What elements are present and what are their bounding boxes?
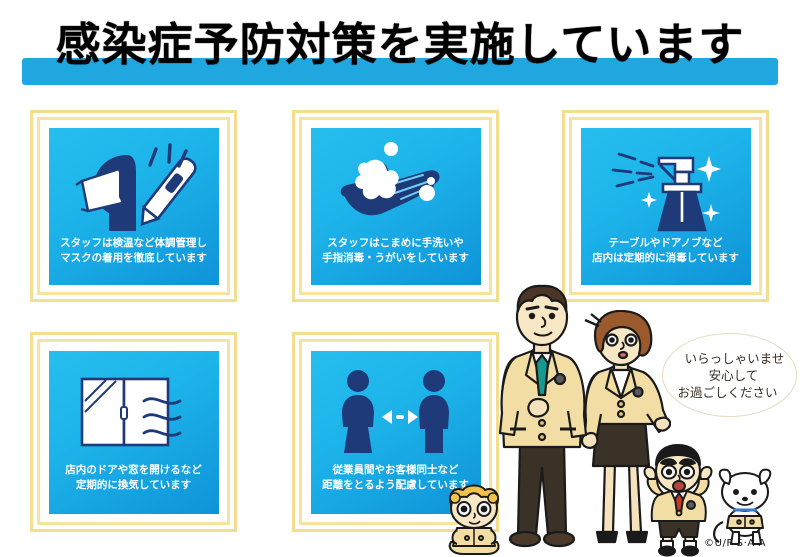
panel-caption-line2: 店内は定期的に消毒しています (592, 251, 739, 266)
panel-caption-line1: 従業員間やお客様同士など (333, 463, 459, 478)
panel-hand-washing: スタッフはこまめに手洗いや 手指消毒・うがいをしています (311, 128, 481, 285)
panel-caption-line2: 手指消毒・うがいをしています (322, 251, 469, 266)
panel-caption-line1: 店内のドアや窓を開けるなど (65, 463, 202, 478)
panel-caption-line1: スタッフはこまめに手洗いや (327, 236, 464, 251)
speech-line-3: お過ごしください (677, 384, 777, 401)
panel-disinfection: テーブルやドアノブなど 店内は定期的に消毒しています (581, 128, 751, 285)
panel-caption-line1: テーブルやドアノブなど (609, 236, 723, 251)
panel-caption-line2: 定期的に換気しています (76, 478, 191, 493)
baby-character (443, 482, 505, 557)
frame-inner-mat: スタッフはこまめに手洗いや 手指消毒・うがいをしています (299, 117, 492, 295)
frame-inner-mat: スタッフは検温など体調管理し マスクの着用を徹底しています (37, 117, 230, 295)
panel-caption-line1: スタッフは検温など体調管理し (60, 236, 207, 251)
infection-prevention-poster: 感染症予防対策を実施しています (0, 0, 800, 557)
panel-frame-ventilation: 店内のドアや窓を開けるなど 定期的に換気しています (30, 332, 237, 532)
hand-washing-icon (331, 140, 461, 236)
greeting-speech-bubble: いらっしゃいませ 安心して お過ごしください (662, 333, 797, 417)
speech-line-1: いらっしゃいませ (685, 350, 785, 367)
two-people-distance-icon (330, 363, 462, 463)
white-dog-character (709, 466, 781, 550)
frame-inner-mat: テーブルやドアノブなど 店内は定期的に消毒しています (569, 117, 762, 295)
masked-head-thermometer-icon (64, 140, 204, 236)
panel-frame-disinfection: テーブルやドアノブなど 店内は定期的に消毒しています (562, 110, 769, 302)
panel-ventilation: 店内のドアや窓を開けるなど 定期的に換気しています (49, 351, 219, 514)
page-title: 感染症予防対策を実施しています (0, 14, 800, 76)
boy-character (639, 443, 717, 557)
spray-bottle-icon (601, 140, 731, 236)
panel-frame-hand-washing: スタッフはこまめに手洗いや 手指消毒・うがいをしています (292, 110, 499, 302)
poster-title-area: 感染症予防対策を実施しています (0, 14, 800, 86)
speech-line-2: 安心して (709, 367, 759, 384)
panel-health-check: スタッフは検温など体調管理し マスクの着用を徹底しています (49, 128, 219, 285)
frame-inner-mat: 店内のドアや窓を開けるなど 定期的に換気しています (37, 339, 230, 525)
suited-man-character (494, 283, 598, 557)
panel-frame-health-check: スタッフは検温など体調管理し マスクの着用を徹底しています (30, 110, 237, 302)
panel-caption-line2: マスクの着用を徹底しています (60, 251, 207, 266)
open-window-airflow-icon (68, 363, 200, 463)
